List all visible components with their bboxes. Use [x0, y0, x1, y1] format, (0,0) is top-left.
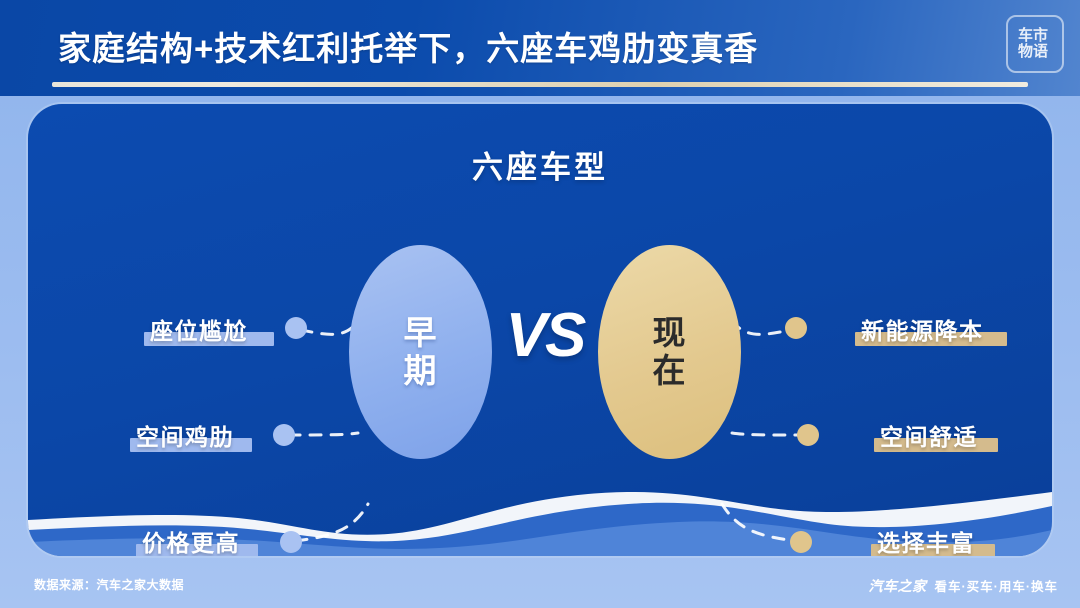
vs-label: VS — [492, 300, 598, 371]
seal-label: 车市物语 — [1012, 28, 1054, 60]
footer-brand-name: 汽车之家 — [869, 576, 927, 596]
node-dot-right-1 — [785, 317, 807, 339]
brand-seal-logo: 车市物语 — [1002, 12, 1064, 76]
node-dot-left-2 — [273, 424, 295, 446]
tag-right-3: 选择丰富 — [877, 522, 975, 556]
node-dot-left-1 — [285, 317, 307, 339]
oval-early: 早期 — [349, 245, 492, 459]
tag-left-3: 价格更高 — [142, 522, 240, 556]
tag-left-2-label: 空间鸡肋 — [136, 424, 234, 450]
tag-right-3-label: 选择丰富 — [877, 530, 975, 556]
oval-early-label: 早期 — [398, 314, 444, 390]
header-band: 家庭结构+技术红利托举下，六座车鸡肋变真香 车市物语 — [0, 0, 1080, 96]
node-dot-right-2 — [797, 424, 819, 446]
footer-brand-slogan: 看车·买车·用车·换车 — [935, 576, 1059, 595]
infographic-canvas: 家庭结构+技术红利托举下，六座车鸡肋变真香 车市物语 六座车型 — [0, 0, 1080, 608]
page-title: 家庭结构+技术红利托举下，六座车鸡肋变真香 — [58, 22, 758, 70]
oval-now-label: 现在 — [647, 314, 693, 390]
node-dot-right-3 — [790, 531, 812, 553]
oval-now: 现在 — [598, 245, 741, 459]
tag-left-3-label: 价格更高 — [142, 530, 240, 556]
tag-left-1-label: 座位尴尬 — [150, 318, 248, 344]
tag-right-1: 新能源降本 — [861, 310, 984, 344]
tag-right-2-label: 空间舒适 — [880, 424, 978, 450]
tag-left-2: 空间鸡肋 — [136, 416, 234, 450]
node-dot-left-3 — [280, 531, 302, 553]
comparison-card: 六座车型 早期 VS 现在 — [28, 104, 1052, 556]
title-divider — [52, 82, 1028, 87]
footer-brand: 汽车之家 看车·买车·用车·换车 — [869, 576, 1059, 596]
tag-right-2: 空间舒适 — [880, 416, 978, 450]
data-source-note: 数据来源：汽车之家大数据 — [34, 576, 184, 593]
tag-right-1-label: 新能源降本 — [861, 318, 984, 344]
tag-left-1: 座位尴尬 — [150, 310, 248, 344]
